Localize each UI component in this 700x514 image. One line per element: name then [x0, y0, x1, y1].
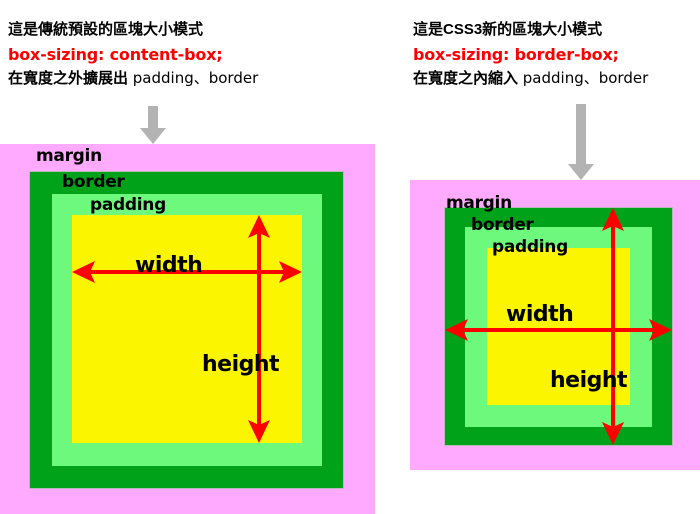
left-padding-label: padding [90, 195, 166, 215]
caption-right-line1: 這是CSS3新的區塊大小模式 [413, 18, 648, 42]
right-padding-label: padding [492, 237, 568, 257]
caption-left-line1: 這是傳統預設的區塊大小模式 [8, 18, 258, 42]
left-height-label: height [202, 352, 279, 377]
caption-right-line3: 在寬度之內縮入 padding、border [413, 67, 648, 91]
right-width-label: width [506, 302, 573, 327]
caption-content-box: 這是傳統預設的區塊大小模式 box-sizing: content-box; 在… [8, 18, 258, 91]
caption-left-line3-cjk: 在寬度之外擴展出 [8, 70, 128, 87]
caption-right-line3-cjk: 在寬度之內縮入 [413, 70, 518, 87]
caption-border-box: 這是CSS3新的區塊大小模式 box-sizing: border-box; 在… [413, 18, 648, 91]
right-margin-label: margin [446, 193, 512, 213]
left-border-label: border [62, 172, 125, 192]
left-margin-label: margin [36, 146, 102, 166]
caption-right-code: box-sizing: border-box; [413, 42, 648, 67]
left-content-area [72, 215, 302, 443]
left-width-label: width [135, 253, 202, 278]
right-height-label: height [550, 368, 627, 393]
gray-down-arrow-icon [568, 104, 594, 182]
caption-left-line3: 在寬度之外擴展出 padding、border [8, 67, 258, 91]
gray-down-arrow-icon [140, 106, 166, 146]
caption-right-line3-latin: padding、border [518, 69, 648, 87]
caption-left-line3-latin: padding、border [128, 69, 258, 87]
right-border-label: border [471, 215, 534, 235]
caption-left-code: box-sizing: content-box; [8, 42, 258, 67]
